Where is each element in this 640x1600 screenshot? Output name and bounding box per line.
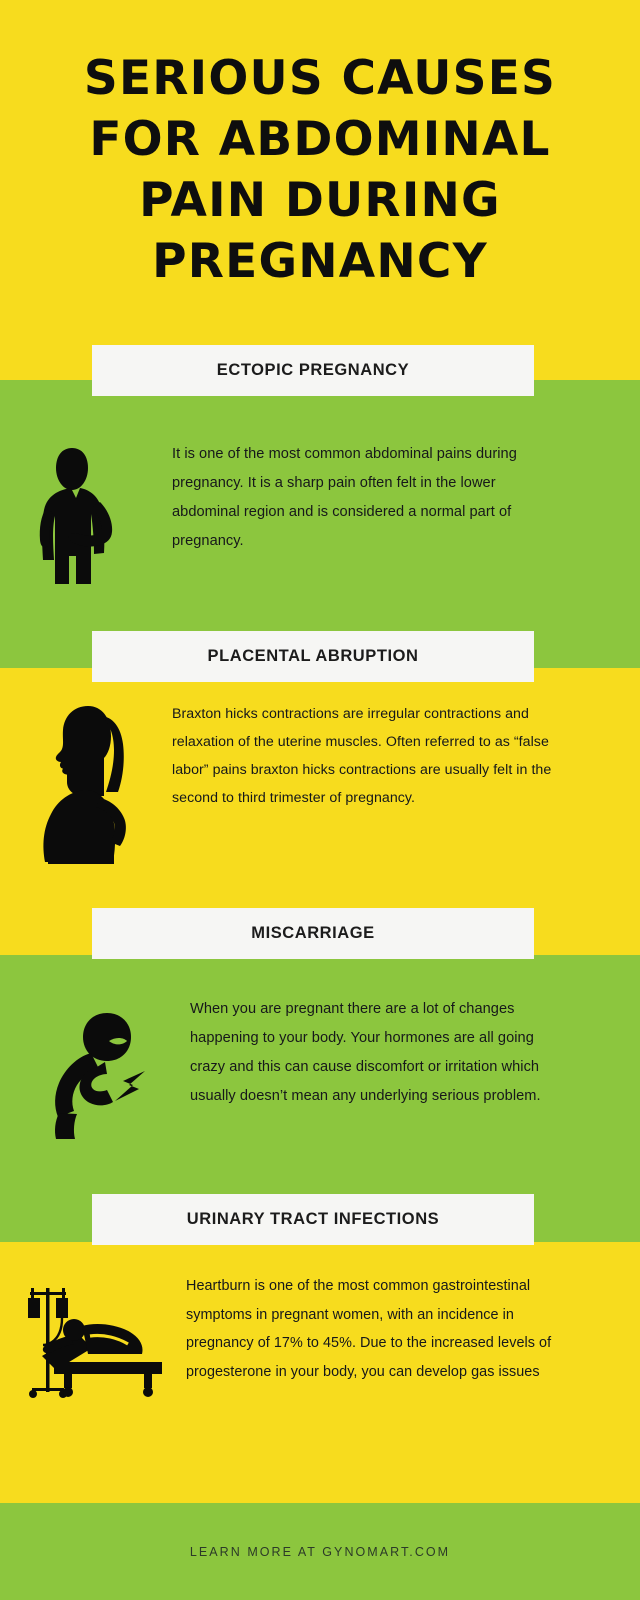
footer: Learn More At Gynomart.com bbox=[0, 1503, 640, 1600]
footer-attribution-text: Learn More At Gynomart.com bbox=[190, 1545, 450, 1559]
section-body-cell: Heartburn is one of the most common gast… bbox=[186, 1272, 586, 1386]
section-heading: PLACENTAL ABRUPTION bbox=[208, 647, 419, 666]
section-body-cell: It is one of the most common abdominal p… bbox=[172, 440, 580, 556]
section-body-cell: Braxton hicks contractions are irregular… bbox=[172, 700, 582, 812]
pregnant-woman-silhouette-icon bbox=[34, 704, 138, 864]
section-heading: ECTOPIC PREGNANCY bbox=[217, 361, 409, 380]
section-body-text: Heartburn is one of the most common gast… bbox=[186, 1272, 562, 1386]
section-header-placental-abruption: PLACENTAL ABRUPTION bbox=[92, 631, 534, 682]
section-body-text: It is one of the most common abdominal p… bbox=[172, 440, 552, 556]
section-header-urinary-tract-infections: URINARY TRACT INFECTIONS bbox=[92, 1194, 534, 1245]
section-icon-cell bbox=[0, 995, 190, 1139]
section-body-text: When you are pregnant there are a lot of… bbox=[190, 995, 568, 1111]
section-body-placental-abruption: Braxton hicks contractions are irregular… bbox=[0, 700, 640, 864]
section-icon-cell bbox=[0, 700, 172, 864]
section-heading: URINARY TRACT INFECTIONS bbox=[187, 1210, 439, 1229]
section-header-ectopic-pregnancy: ECTOPIC PREGNANCY bbox=[92, 345, 534, 396]
section-heading: MISCARRIAGE bbox=[251, 924, 374, 943]
section-icon-cell bbox=[0, 440, 172, 594]
infographic-poster: Serious Causes For Abdominal Pain During… bbox=[0, 0, 640, 1600]
person-holding-abdomen-icon bbox=[38, 444, 134, 594]
section-body-cell: When you are pregnant there are a lot of… bbox=[190, 995, 590, 1111]
section-header-miscarriage: MISCARRIAGE bbox=[92, 908, 534, 959]
section-icon-cell bbox=[0, 1272, 186, 1402]
section-body-text: Braxton hicks contractions are irregular… bbox=[172, 700, 564, 812]
section-body-ectopic-pregnancy: It is one of the most common abdominal p… bbox=[0, 440, 640, 594]
section-body-urinary-tract-infections: Heartburn is one of the most common gast… bbox=[0, 1272, 640, 1402]
page-title: Serious Causes For Abdominal Pain During… bbox=[40, 48, 600, 292]
person-bent-in-pain-icon bbox=[41, 1009, 149, 1139]
section-body-miscarriage: When you are pregnant there are a lot of… bbox=[0, 995, 640, 1139]
hero-section: Serious Causes For Abdominal Pain During… bbox=[0, 0, 640, 340]
patient-on-hospital-bed-with-iv-icon bbox=[18, 1282, 168, 1402]
